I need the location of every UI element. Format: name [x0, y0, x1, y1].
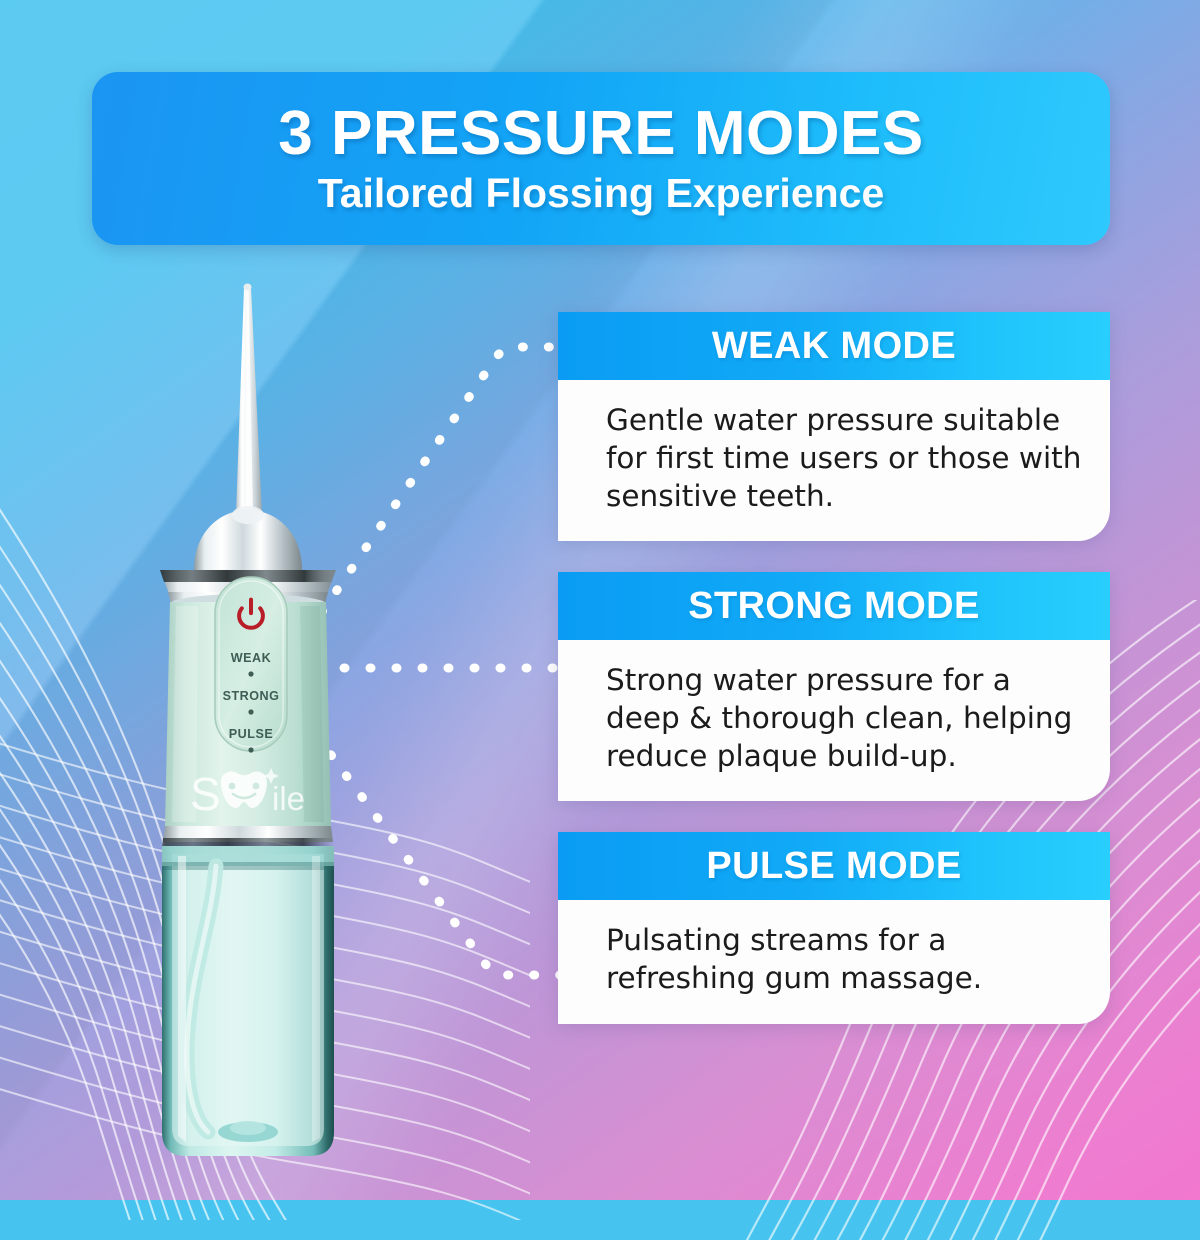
card-text-strong: Strong water pressure for a deep & thoro… [606, 662, 1084, 775]
page-title: 3 PRESSURE MODES [278, 102, 923, 165]
mode-dot-pulse [248, 747, 253, 752]
card-body-strong: Strong water pressure for a deep & thoro… [558, 640, 1110, 801]
card-header-weak: WEAK MODE [558, 312, 1110, 380]
mode-card-pulse: PULSE MODE Pulsating streams for a refre… [558, 832, 1110, 1024]
mode-label-pulse: PULSE [229, 727, 274, 741]
card-text-pulse: Pulsating streams for a refreshing gum m… [606, 922, 1084, 998]
mode-card-weak: WEAK MODE Gentle water pressure suitable… [558, 312, 1110, 541]
brand-letters-ile: ile [272, 780, 305, 817]
card-title-pulse: PULSE MODE [706, 845, 961, 888]
water-flosser-device: WEAK STRONG PULSE S ile THERAPY [120, 270, 410, 1170]
card-text-weak: Gentle water pressure suitable for first… [606, 402, 1084, 515]
nozzle-icon [236, 284, 262, 516]
header-banner: 3 PRESSURE MODES Tailored Flossing Exper… [92, 72, 1110, 245]
card-header-strong: STRONG MODE [558, 572, 1110, 640]
card-header-pulse: PULSE MODE [558, 832, 1110, 900]
page-subtitle: Tailored Flossing Experience [318, 172, 885, 215]
card-body-weak: Gentle water pressure suitable for first… [558, 380, 1110, 541]
card-title-strong: STRONG MODE [688, 585, 980, 628]
card-title-weak: WEAK MODE [712, 325, 956, 368]
mode-label-strong: STRONG [223, 689, 280, 703]
card-body-pulse: Pulsating streams for a refreshing gum m… [558, 900, 1110, 1024]
mode-label-weak: WEAK [231, 651, 271, 665]
brand-letter-s: S [190, 768, 221, 820]
mode-dot-weak [248, 671, 253, 676]
mode-dot-strong [248, 709, 253, 714]
mode-card-strong: STRONG MODE Strong water pressure for a … [558, 572, 1110, 801]
water-tank [162, 846, 334, 1156]
